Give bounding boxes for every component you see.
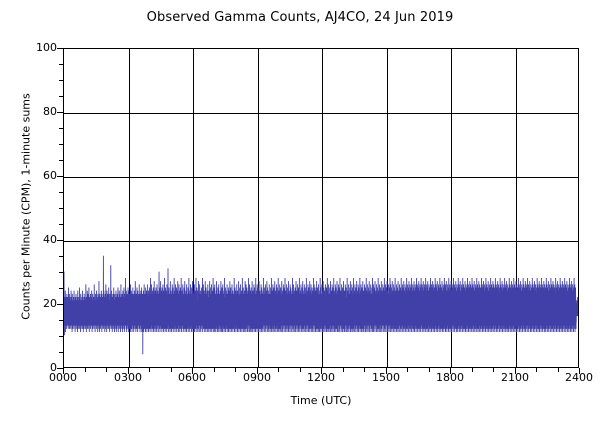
x-tick-600 [278,368,279,372]
y-tick-30 [59,272,63,273]
y-tick-60 [57,176,63,177]
data-series-gamma-counts [64,49,578,367]
x-tick-960 [407,368,408,372]
y-tick-20 [57,304,63,305]
y-tick-40 [57,240,63,241]
x-tick-60 [85,368,86,372]
y-tick-10 [59,336,63,337]
y-tick-70 [59,144,63,145]
y-tick-95 [59,64,63,65]
y-tick-35 [59,256,63,257]
page-title: Observed Gamma Counts, AJ4CO, 24 Jun 201… [0,10,600,25]
y-tick-50 [59,208,63,209]
x-tick-240 [149,368,150,372]
chart-root: Observed Gamma Counts, AJ4CO, 24 Jun 201… [0,0,600,428]
plot-area [63,48,579,368]
x-tick-label-1500: 1500 [356,372,416,384]
y-tick-90 [59,80,63,81]
y-tick-55 [59,192,63,193]
x-tick-label-0900: 0900 [227,372,287,384]
x-axis-title: Time (UTC) [63,394,579,407]
x-tick-1140 [472,368,473,372]
x-tick-label-2400: 2400 [549,372,600,384]
x-tick-label-1200: 1200 [291,372,351,384]
y-axis-title: Counts per Minute (CPM), 1-minute sums [20,47,33,367]
y-tick-25 [59,288,63,289]
y-tick-75 [59,128,63,129]
x-tick-780 [343,368,344,372]
x-tick-label-0300: 0300 [98,372,158,384]
y-tick-65 [59,160,63,161]
x-tick-420 [214,368,215,372]
y-tick-15 [59,320,63,321]
y-tick-80 [57,112,63,113]
y-tick-100 [57,48,63,49]
y-tick-45 [59,224,63,225]
x-tick-label-2100: 2100 [485,372,545,384]
x-tick-1320 [536,368,537,372]
y-tick-5 [59,352,63,353]
x-tick-label-0000: 0000 [33,372,93,384]
x-tick-label-0600: 0600 [162,372,222,384]
x-tick-label-1800: 1800 [420,372,480,384]
y-tick-85 [59,96,63,97]
